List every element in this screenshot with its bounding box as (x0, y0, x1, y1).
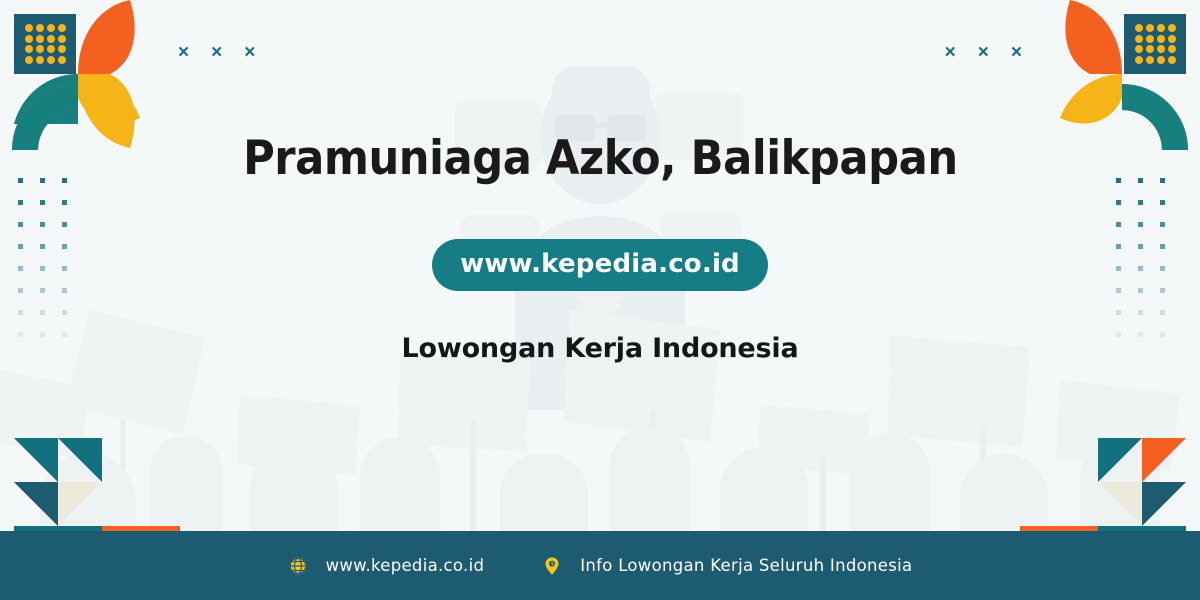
job-banner: × × × × × × Pramuniaga Azko, Balikpapan … (0, 0, 1200, 600)
banner-subtitle: Lowongan Kerja Indonesia (401, 333, 798, 364)
footer-bar: www.kepedia.co.id Info Lowongan Kerja Se… (0, 531, 1200, 600)
footer-info-label: Info Lowongan Kerja Seluruh Indonesia (580, 556, 912, 575)
location-pin-icon (542, 556, 562, 576)
website-url-badge[interactable]: www.kepedia.co.id (432, 239, 768, 291)
footer-item-info[interactable]: Info Lowongan Kerja Seluruh Indonesia (542, 556, 912, 576)
banner-content: Pramuniaga Azko, Balikpapan www.kepedia.… (0, 0, 1200, 531)
page-title: Pramuniaga Azko, Balikpapan (243, 133, 958, 185)
footer-item-website[interactable]: www.kepedia.co.id (288, 556, 485, 576)
globe-icon (288, 556, 308, 576)
footer-website-label: www.kepedia.co.id (326, 556, 485, 575)
